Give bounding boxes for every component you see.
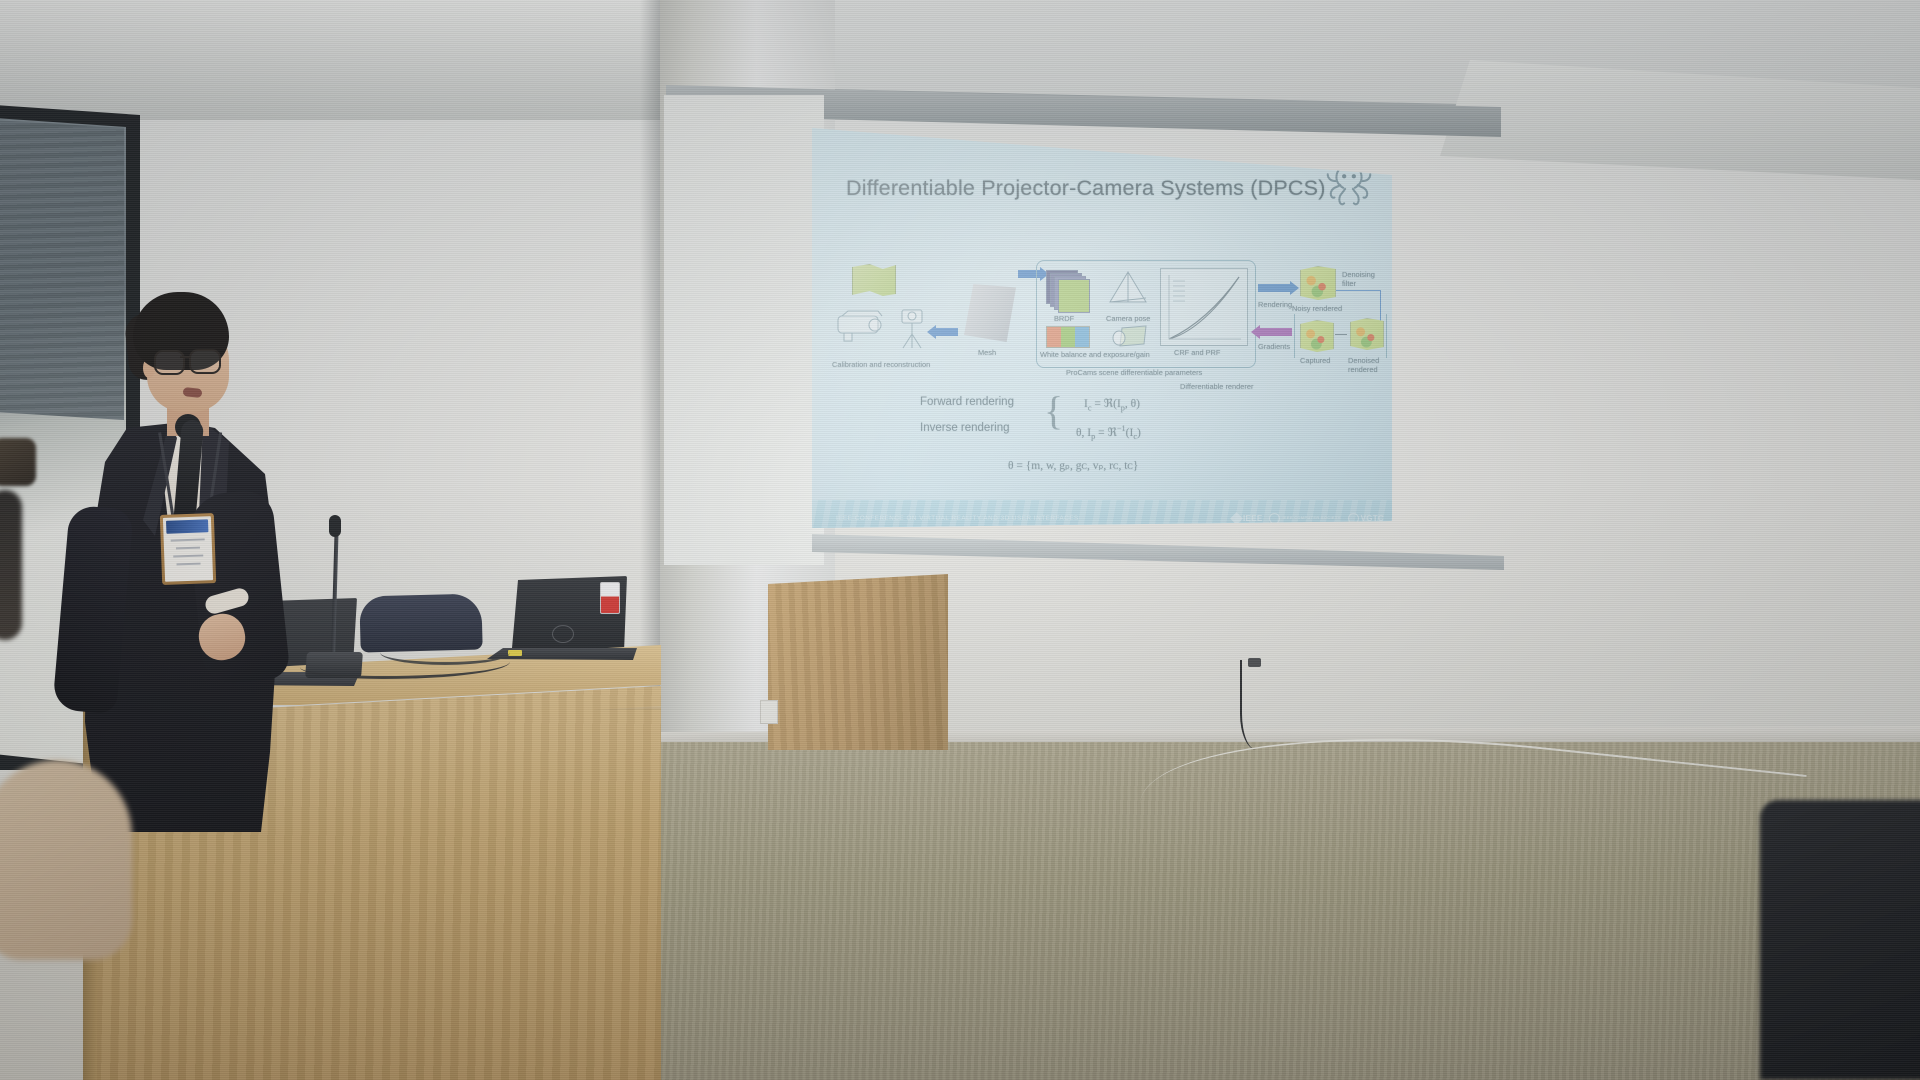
exposure-lens-icon xyxy=(1110,324,1150,350)
badge-text-line xyxy=(171,538,205,541)
inv-head-sub: p xyxy=(1091,432,1095,441)
theta-definition: θ = {m, w, gₚ, gᴄ, vₚ, rᴄ, tᴄ} xyxy=(1008,458,1138,472)
brdf-icon xyxy=(1046,270,1086,310)
presenter xyxy=(55,292,285,832)
label-rendering: Rendering xyxy=(1258,300,1292,309)
ieee-cs-circle-icon xyxy=(1269,513,1280,524)
conference-badge xyxy=(160,513,216,585)
fwd-lhs-sub: c xyxy=(1088,403,1092,412)
desk-cable-two xyxy=(380,640,510,665)
ieee-logo-text: IEEE xyxy=(1243,514,1262,523)
wall-plate xyxy=(760,700,778,724)
label-gradients: Gradients xyxy=(1258,342,1290,351)
white-balance-icon xyxy=(1046,326,1090,348)
laptop-red-sticker xyxy=(600,582,620,614)
arrow-rendering xyxy=(1258,284,1292,292)
projected-pattern-flag xyxy=(852,264,896,298)
fwd-eq: = ℜ(I xyxy=(1094,398,1120,410)
badge-text-line xyxy=(176,547,200,550)
pipeline-diagram: Calibration and reconstruction Mesh BRDF xyxy=(830,256,1386,386)
slide-title: Differentiable Projector-Camera Systems … xyxy=(846,176,1366,201)
label-differentiable-renderer: Differentiable renderer xyxy=(1180,382,1253,391)
badge-header-band xyxy=(166,519,208,533)
label-denoised-rendered: Denoised rendered xyxy=(1348,356,1388,374)
inv-close: ) xyxy=(1137,427,1141,439)
wood-wall-panel-grain xyxy=(768,560,948,750)
foreground-audience-head xyxy=(0,760,132,960)
label-camera-pose: Camera pose xyxy=(1106,314,1150,323)
arrow-gradients xyxy=(1258,328,1292,336)
difference-minus-sign xyxy=(1335,334,1347,335)
camera-tripod-icon xyxy=(894,306,930,350)
badge-text-line xyxy=(173,554,203,557)
eyeglasses-left-lens xyxy=(154,350,185,375)
foreground-object-blurred xyxy=(0,438,36,486)
ieee-logo: IEEE xyxy=(1232,514,1262,523)
mesh-surface xyxy=(964,284,1016,342)
denoised-rendered-image xyxy=(1350,318,1384,352)
inverse-rendering-label: Inverse rendering xyxy=(920,422,1010,434)
label-calibration: Calibration and reconstruction xyxy=(832,360,930,369)
crf-prf-plot xyxy=(1160,268,1248,346)
noisy-rendered-image xyxy=(1300,266,1336,302)
gooseneck-microphone-head xyxy=(329,515,341,537)
screen-white-margin xyxy=(664,95,824,565)
ieee-cs-logo-text: IEEE COMPUTER SOCIETY xyxy=(1282,516,1340,520)
presentation-photo-scene: Differentiable Projector-Camera Systems … xyxy=(0,0,1920,1080)
laptop-yellow-sticker xyxy=(508,650,522,656)
conference-badge-face xyxy=(163,516,213,582)
diff-bracket-right xyxy=(1386,314,1387,358)
foreground-audience-silhouette xyxy=(0,490,22,640)
label-crf-prf: CRF and PRF xyxy=(1174,348,1220,357)
label-denoising-filter: Denoising filter xyxy=(1342,270,1386,288)
camera-pose-icon xyxy=(1104,268,1152,312)
forward-rendering-label: Forward rendering xyxy=(920,396,1014,408)
laptop-brand-badge xyxy=(552,625,574,643)
foreground-dark-object xyxy=(1760,800,1920,1080)
label-white-balance: White balance and exposure/gain xyxy=(1040,350,1150,359)
presenter-mouth xyxy=(183,387,203,398)
badge-text-line xyxy=(176,563,200,566)
footer-conference-name: IEEE CONFERENCE ON VIRTUAL REALITY AND 3… xyxy=(836,515,1079,522)
forward-rendering-equation: Ic = ℜ(Ip, θ) xyxy=(1084,396,1140,412)
diff-bracket xyxy=(1294,314,1295,358)
projector-icon xyxy=(834,308,890,346)
captured-image xyxy=(1300,320,1334,354)
inverse-rendering-equation: θ, Ip = ℜ−1(Ic) xyxy=(1076,424,1141,441)
label-brdf: BRDF xyxy=(1054,314,1074,323)
eyeglasses-right-lens xyxy=(189,349,221,374)
label-noisy-rendered: Noisy rendered xyxy=(1292,304,1342,313)
eyeglasses-bridge xyxy=(180,356,191,358)
wall-cable xyxy=(1240,660,1282,750)
inv-sup: −1 xyxy=(1117,424,1126,433)
projection-screen: Differentiable Projector-Camera Systems … xyxy=(812,128,1392,528)
label-procams-params: ProCams scene differentiable parameters xyxy=(1066,368,1202,377)
label-mesh: Mesh xyxy=(978,348,996,357)
slide-surface: Differentiable Projector-Camera Systems … xyxy=(812,128,1392,528)
arrow-to-mesh xyxy=(934,328,958,336)
label-captured: Captured xyxy=(1300,356,1330,365)
fwd-tail: , θ) xyxy=(1125,398,1140,410)
inv-mid: = ℜ xyxy=(1098,427,1117,439)
inv-head: θ, I xyxy=(1076,427,1091,439)
formula-brace: { xyxy=(1044,394,1063,428)
